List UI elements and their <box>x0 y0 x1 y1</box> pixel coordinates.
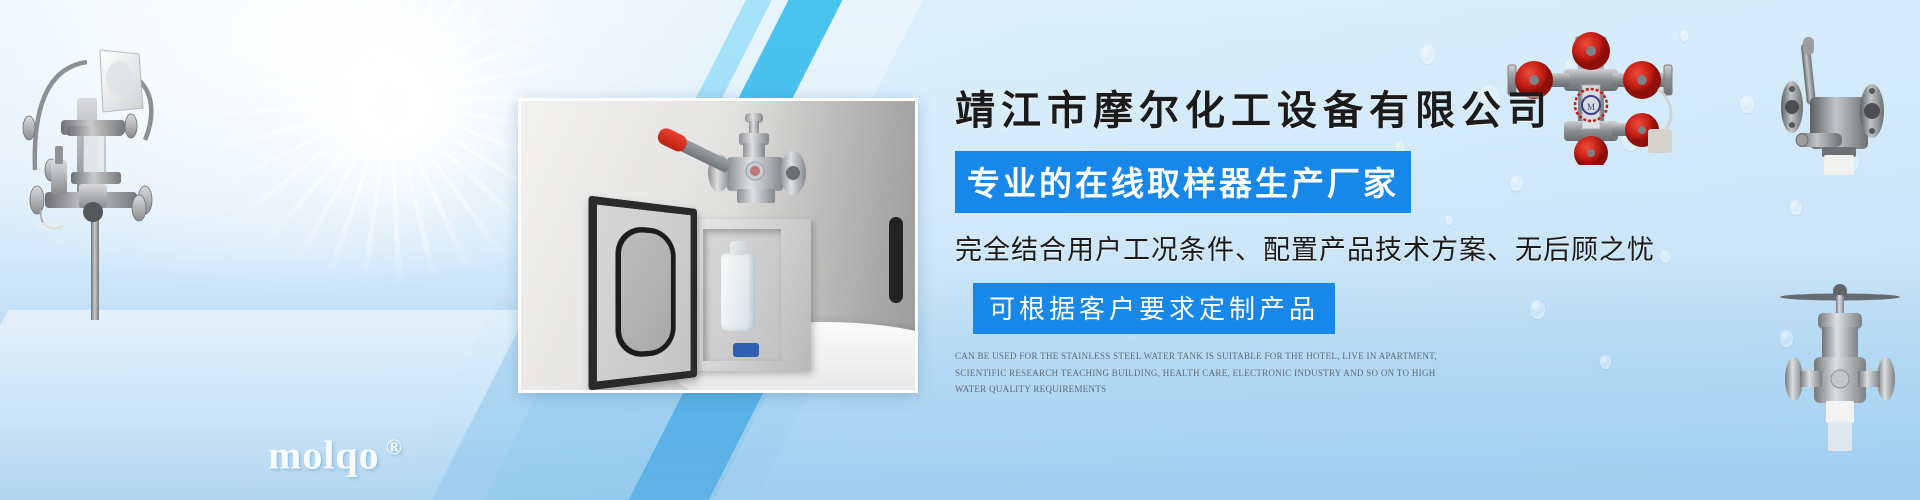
photo-door-window <box>615 225 675 359</box>
company-name: 靖江市摩尔化工设备有限公司 <box>955 78 1715 136</box>
banner-text-block: 靖江市摩尔化工设备有限公司 专业的在线取样器生产厂家 完全结合用户工况条件、配置… <box>955 78 1715 398</box>
left-product-image <box>5 20 185 320</box>
headline-badge: 专业的在线取样器生产厂家 <box>955 151 1411 213</box>
top-right-product-image-2 <box>1760 25 1910 175</box>
water-highlight-band <box>0 310 528 500</box>
bottom-right-product-image <box>1770 275 1910 460</box>
photo-bottle-cap <box>733 343 759 357</box>
photo-sample-bottle <box>721 253 755 331</box>
english-description: CAN BE USED FOR THE STAINLESS STEEL WATE… <box>955 348 1455 398</box>
tagline-badge: 可根据客户要求定制产品 <box>973 283 1335 334</box>
photo-cabinet-door <box>589 196 697 391</box>
promo-banner: M <box>0 0 1920 500</box>
photo-cabinet-handle <box>889 217 903 303</box>
watermark-text: molqo <box>268 433 380 478</box>
watermark-logo: molqo® <box>268 432 403 479</box>
registered-trademark-icon: ® <box>386 434 403 459</box>
center-product-photo <box>518 98 918 393</box>
subheadline-text: 完全结合用户工况条件、配置产品技术方案、无后顾之忧 <box>955 228 1715 267</box>
